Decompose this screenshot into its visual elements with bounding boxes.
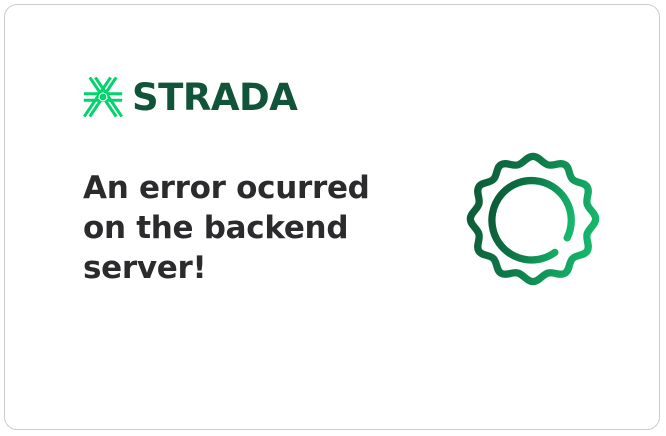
- gear-icon: [452, 145, 614, 307]
- error-card: STRADA An error ocurred on the backend s…: [4, 4, 660, 430]
- strada-asterisk-icon: [83, 77, 123, 117]
- brand-logo: STRADA: [83, 77, 297, 117]
- brand-name: STRADA: [132, 79, 297, 116]
- error-message: An error ocurred on the backend server!: [83, 168, 383, 288]
